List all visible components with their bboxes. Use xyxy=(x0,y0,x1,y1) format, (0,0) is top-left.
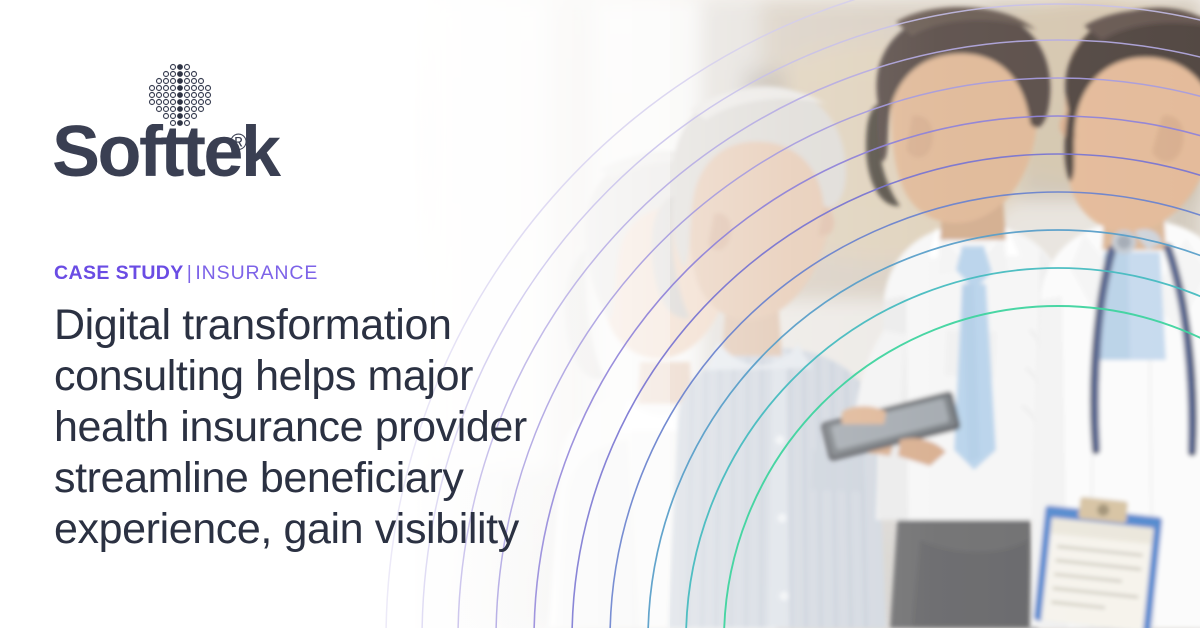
hexagon-dot-matrix xyxy=(144,62,216,128)
eyebrow-category: INSURANCE xyxy=(195,262,318,284)
softtek-wordmark: Softtek ® xyxy=(52,124,302,188)
headline-line-4: streamline beneficiary xyxy=(54,453,654,504)
eyebrow-separator: | xyxy=(184,262,196,284)
page-title: Digital transformation consulting helps … xyxy=(54,300,654,555)
headline-line-1: Digital transformation xyxy=(54,300,654,351)
case-study-banner: Softtek ® CASE STUDY|INSURANCE Digital t… xyxy=(0,0,1200,628)
registered-mark: ® xyxy=(230,129,247,155)
softtek-wordmark-text: Softtek xyxy=(52,124,282,190)
headline-line-3: health insurance provider xyxy=(54,402,654,453)
headline-line-2: consulting helps major xyxy=(54,351,654,402)
eyebrow-label: CASE STUDY|INSURANCE xyxy=(54,264,318,284)
banner-content: Softtek ® CASE STUDY|INSURANCE Digital t… xyxy=(0,0,1200,628)
eyebrow-case-study: CASE STUDY xyxy=(54,262,184,284)
softtek-wordmark-svg: Softtek ® xyxy=(52,124,302,190)
headline-line-5: experience, gain visibility xyxy=(54,504,654,555)
softtek-hexagon-dots-icon xyxy=(144,62,216,128)
softtek-logo[interactable]: Softtek ® xyxy=(52,62,302,190)
